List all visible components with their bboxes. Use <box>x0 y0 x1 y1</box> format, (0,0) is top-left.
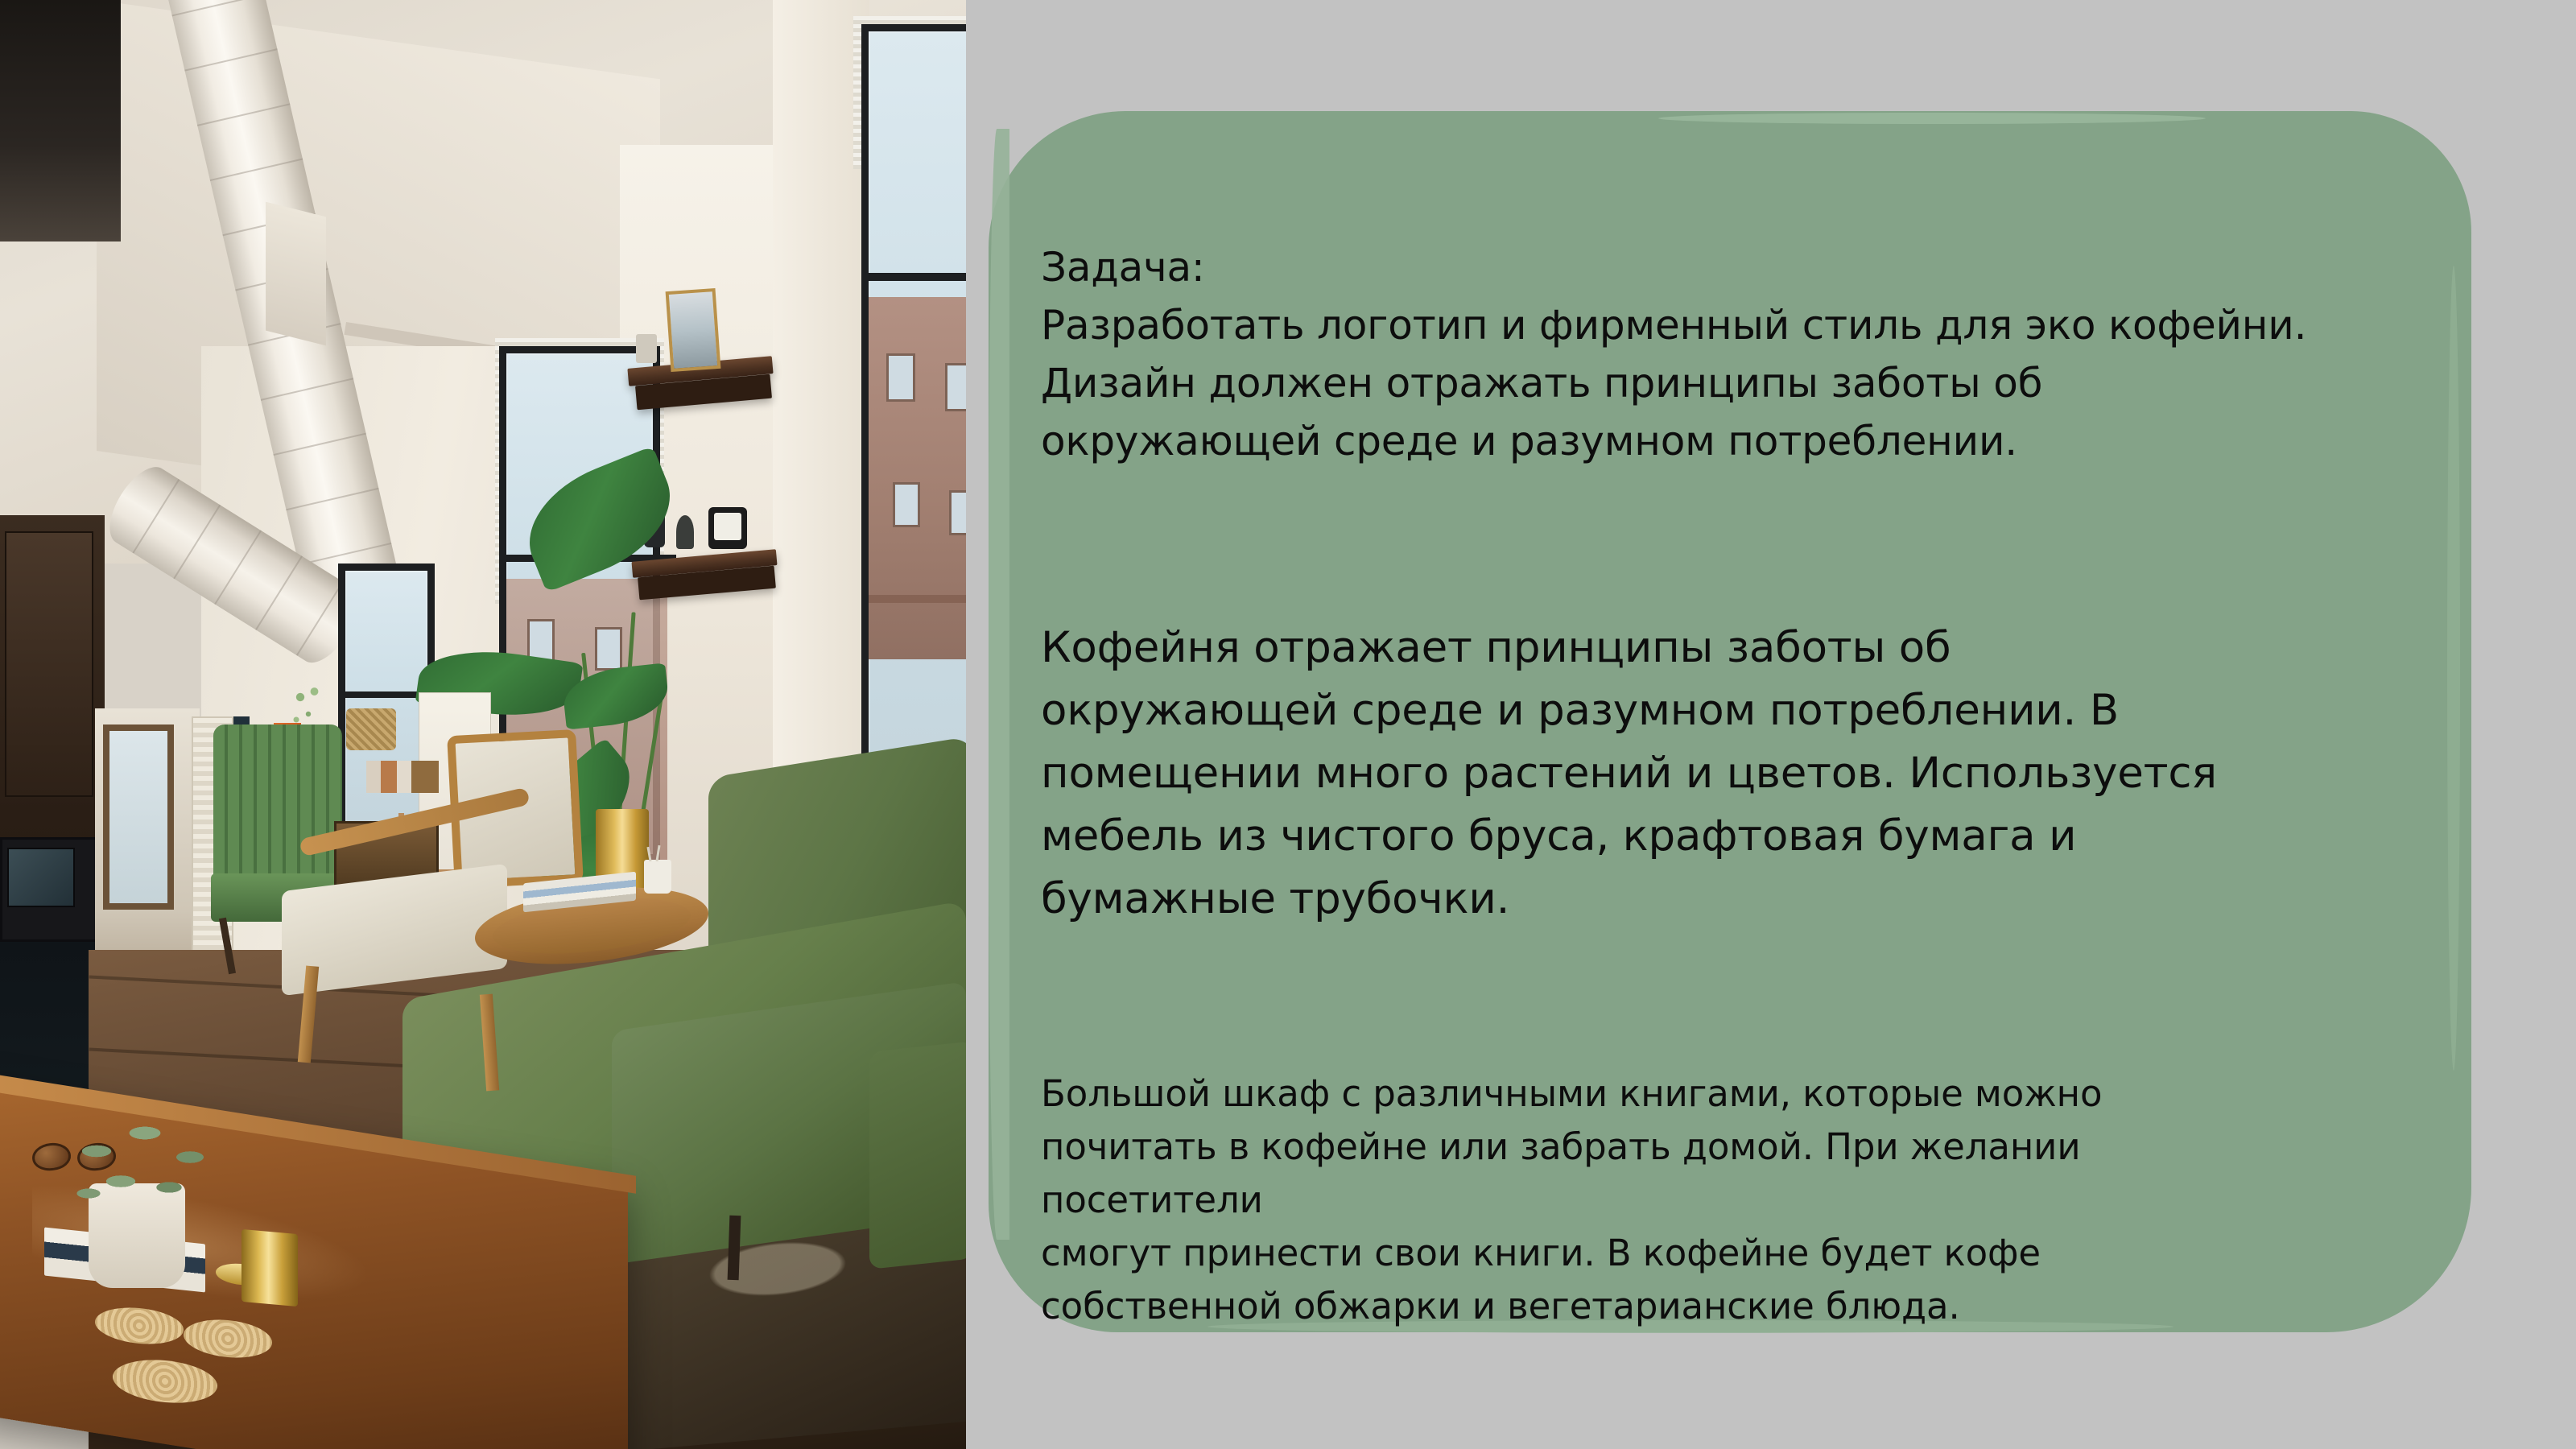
entry-door-window <box>103 724 174 910</box>
brass-candle <box>242 1229 298 1307</box>
duct-junction-box <box>266 202 326 346</box>
slide-root: Задача: Разработать логотип и фирменный … <box>0 0 2576 1449</box>
desk-clock <box>708 507 747 549</box>
interior-photo <box>0 0 966 1449</box>
ceiling-shadow-left <box>0 0 121 242</box>
table-plant-foliage <box>64 1103 225 1224</box>
card-brush-edge-top <box>1658 113 2206 124</box>
paper-straw-cup <box>644 860 671 894</box>
sofa-arm <box>869 1041 966 1269</box>
shelf-vase-small <box>676 515 694 549</box>
woven-basket <box>346 708 396 750</box>
framed-picture <box>666 288 721 372</box>
brief-paragraph: Задача: Разработать логотип и фирменный … <box>1041 238 2458 470</box>
bookshelf-paragraph: Большой шкаф с различными книгами, котор… <box>1041 1067 2232 1333</box>
green-tufted-bench <box>213 724 342 885</box>
sofa-leg <box>728 1216 741 1280</box>
background-books <box>366 761 439 793</box>
concept-paragraph: Кофейня отражает принципы заботы об окру… <box>1041 617 2248 931</box>
card-text-container: Задача: Разработать логотип и фирменный … <box>1041 238 2458 1333</box>
card-brush-edge-left <box>989 129 1009 1240</box>
shelf-cup <box>636 334 657 363</box>
window-right <box>861 24 966 845</box>
microwave <box>0 837 101 942</box>
kitchen-cabinet <box>5 531 93 797</box>
